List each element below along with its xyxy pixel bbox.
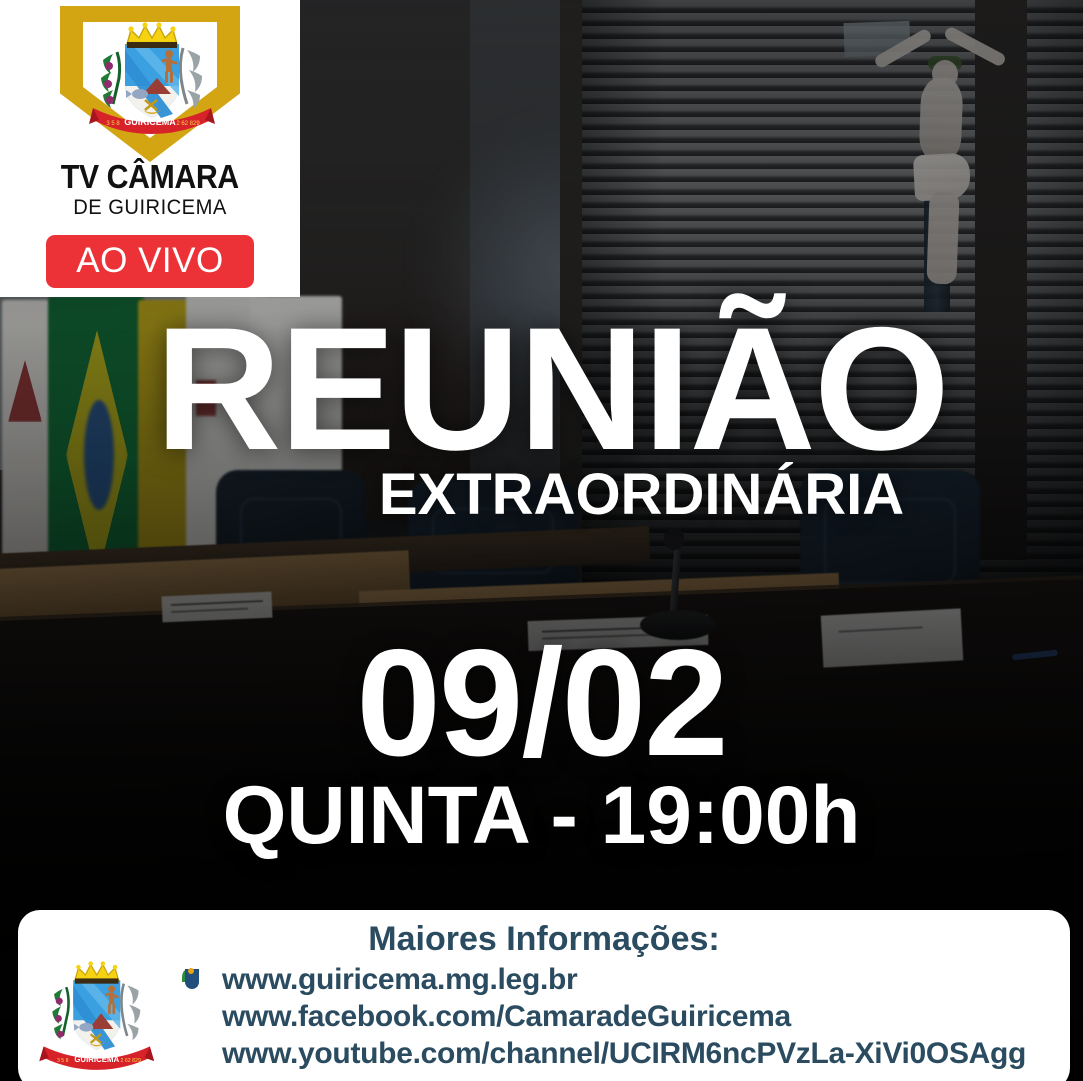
info-body: GUIRICEMA 3 5 8 2 62 829 www.guiricema.m… (18, 961, 1070, 1081)
facebook-url: www.facebook.com/CamaradeGuiricema (222, 1000, 791, 1034)
svg-text:2 62 829: 2 62 829 (121, 1058, 141, 1064)
headline-main: REUNIÃO (0, 318, 1083, 462)
crest-artwork: GUIRICEMA 3 5 8 2 62 829 (83, 22, 217, 142)
tv-camara-logo-box: GUIRICEMA 3 5 8 2 62 829 TV CÂMARA DE GU… (0, 0, 300, 297)
link-row-youtube[interactable]: www.youtube.com/channel/UCIRM6ncPVzLa-Xi… (176, 1035, 1070, 1072)
youtube-icon (176, 1037, 210, 1071)
link-row-website[interactable]: www.guiricema.mg.leg.br (176, 961, 1070, 998)
link-row-facebook[interactable]: f www.facebook.com/CamaradeGuiricema (176, 998, 1070, 1035)
info-title: Maiores Informações: (18, 920, 1070, 959)
schedule-weekday-time: QUINTA - 19:00h (0, 775, 1083, 857)
schedule-block: 09/02 QUINTA - 19:00h (0, 638, 1083, 857)
website-icon (176, 963, 210, 997)
live-badge: AO VIVO (46, 235, 253, 288)
youtube-url: www.youtube.com/channel/UCIRM6ncPVzLa-Xi… (222, 1037, 1026, 1071)
website-url: www.guiricema.mg.leg.br (222, 963, 577, 997)
info-card: Maiores Informações: (18, 910, 1070, 1081)
svg-text:3 5 8: 3 5 8 (106, 121, 120, 127)
headline-block: REUNIÃO EXTRAORDINÁRIA (0, 318, 1083, 524)
crest-ribbon-text: GUIRICEMA (124, 117, 176, 127)
logo-subtitle: DE GUIRICEMA (73, 196, 227, 219)
svg-text:2 62 829: 2 62 829 (176, 121, 200, 127)
crest-icon: GUIRICEMA 3 5 8 2 62 829 (60, 6, 240, 166)
footer-crest-icon: GUIRICEMA 3 5 8 2 62 829 (36, 961, 154, 1081)
schedule-date: 09/02 (0, 638, 1083, 769)
footer-crest-artwork: GUIRICEMA 3 5 8 2 62 829 (36, 961, 154, 1081)
live-session-poster: GUIRICEMA 3 5 8 2 62 829 TV CÂMARA DE GU… (0, 0, 1083, 1081)
svg-text:3 5 8: 3 5 8 (57, 1058, 69, 1064)
svg-text:GUIRICEMA: GUIRICEMA (74, 1055, 119, 1064)
facebook-icon: f (176, 1000, 210, 1034)
logo-title: TV CÂMARA (61, 160, 239, 193)
links-list: www.guiricema.mg.leg.br f www.facebook.c… (176, 961, 1070, 1072)
